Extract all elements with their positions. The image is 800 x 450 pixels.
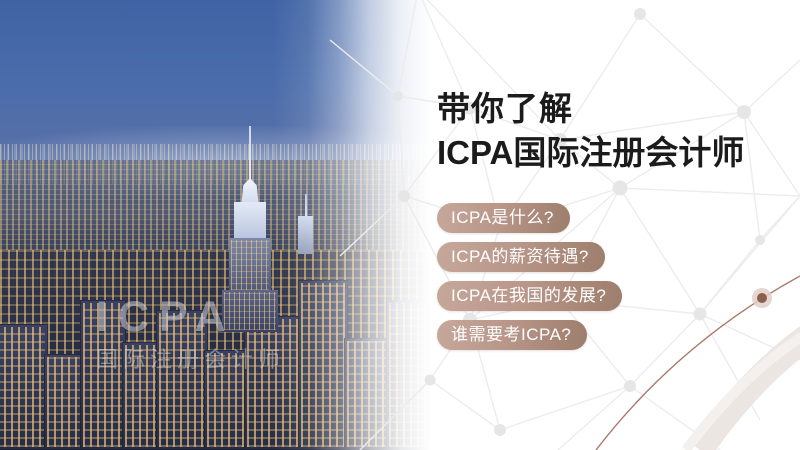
question-pill-list: ICPA是什么? ICPA的薪资待遇? ICPA在我国的发展? 谁需要考ICPA…	[437, 203, 622, 359]
headline-line-2: ICPA国际注册会计师	[437, 134, 744, 173]
arc-band-wide	[700, 322, 800, 450]
pill-who-needs-icpa[interactable]: 谁需要考ICPA?	[437, 320, 587, 350]
headline: 带你了解 ICPA国际注册会计师	[437, 90, 744, 173]
right-content-panel: 带你了解 ICPA国际注册会计师 ICPA是什么? ICPA的薪资待遇? ICP…	[0, 0, 800, 450]
accent-node	[757, 293, 767, 303]
pill-row: ICPA是什么?	[437, 203, 622, 242]
pill-icpa-development-in-china[interactable]: ICPA在我国的发展?	[437, 281, 622, 311]
headline-line-1: 带你了解	[437, 90, 744, 129]
pill-row: ICPA的薪资待遇?	[437, 242, 622, 281]
promo-banner: ICPA 国际注册会计师	[0, 0, 800, 450]
decorative-arcs-graphic	[0, 0, 800, 450]
pill-icpa-salary[interactable]: ICPA的薪资待遇?	[437, 242, 605, 272]
pill-row: 谁需要考ICPA?	[437, 320, 622, 359]
pill-what-is-icpa[interactable]: ICPA是什么?	[437, 203, 570, 233]
pill-row: ICPA在我国的发展?	[437, 281, 622, 320]
arc-band-wide-inner	[686, 326, 800, 450]
